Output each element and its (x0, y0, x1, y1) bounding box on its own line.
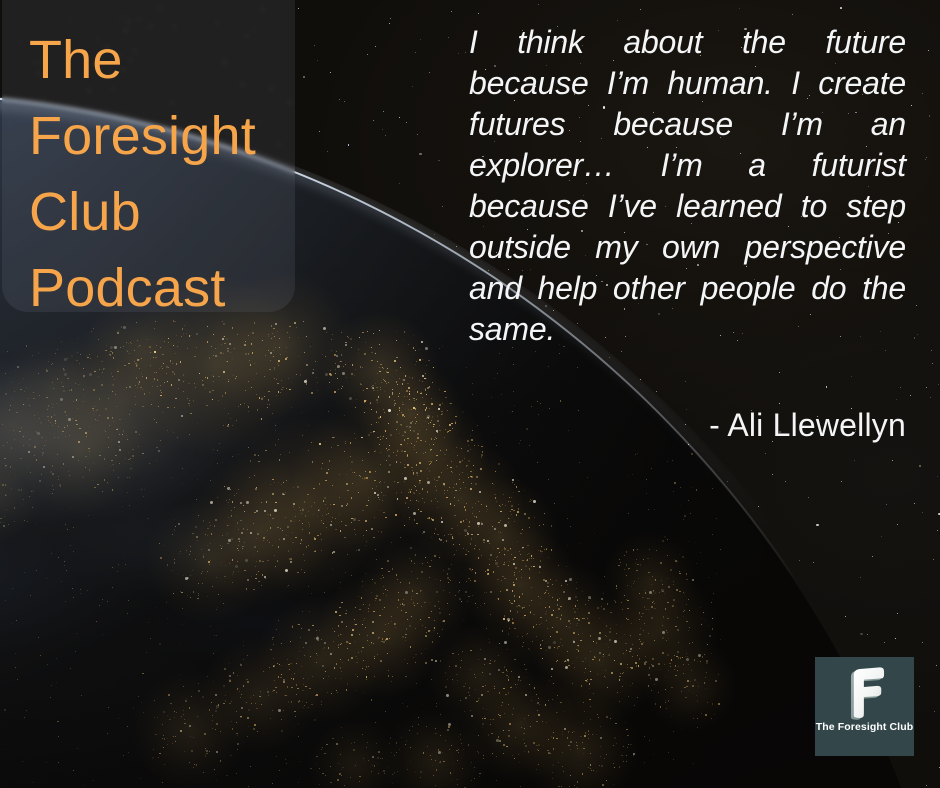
quote-body: I think about the future because I’m hum… (469, 24, 906, 347)
podcast-quote-poster: The Foresight Club Podcast I think about… (0, 0, 940, 788)
title-line-3: Club (29, 174, 295, 250)
quote-block: I think about the future because I’m hum… (469, 22, 906, 445)
quote-attribution: - Ali Llewellyn (469, 405, 906, 445)
title-line-2: Foresight (29, 98, 295, 174)
foresight-club-logo: The Foresight Club (815, 657, 914, 756)
logo-wordmark: The Foresight Club (816, 721, 913, 733)
title-line-4: Podcast (29, 250, 295, 326)
stylized-f-logo-icon (837, 664, 893, 720)
title-card: The Foresight Club Podcast (2, 0, 295, 312)
quote-text: I think about the future because I’m hum… (469, 22, 906, 391)
title-line-1: The (29, 22, 295, 98)
